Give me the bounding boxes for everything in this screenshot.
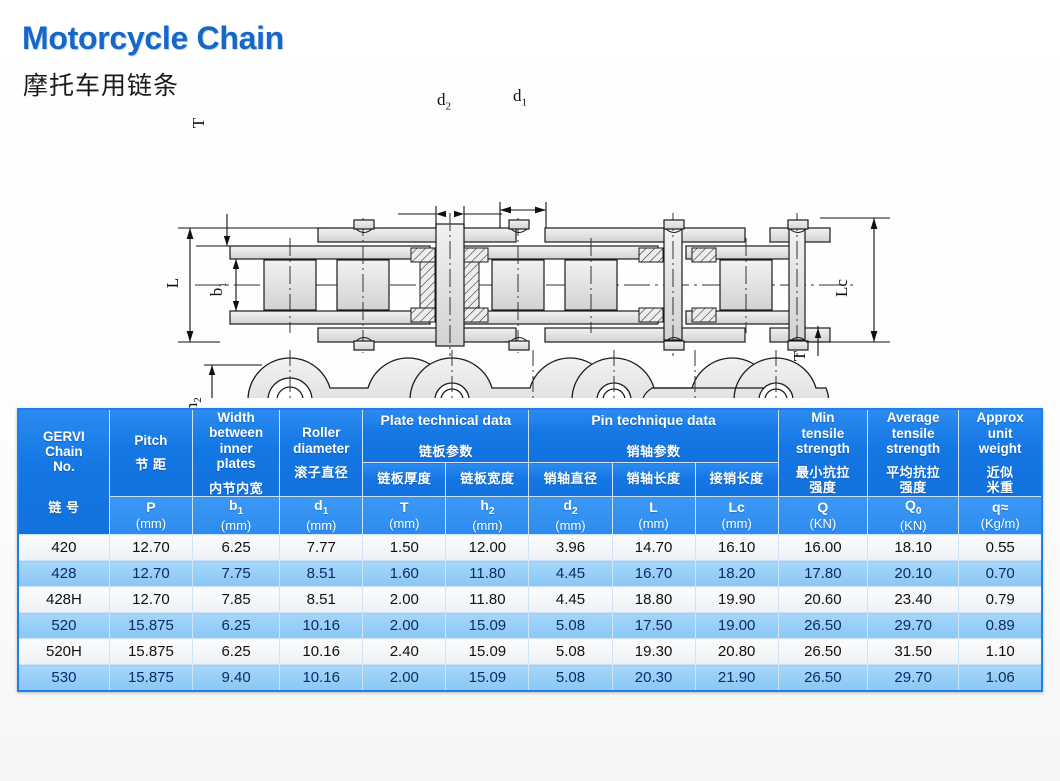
- cell-Lc: 20.80: [695, 639, 778, 665]
- header-approx-unit-weight: Approx unit weight 近似 米重: [959, 409, 1042, 497]
- dim-T-top: [196, 214, 330, 246]
- cell-q: 0.79: [959, 587, 1042, 613]
- cell-d1: 7.77: [280, 535, 363, 561]
- symbol-Q: Q (KN): [778, 497, 867, 535]
- cell-chain-no: 530: [18, 665, 109, 691]
- header-plate-width: 链板宽度: [446, 463, 529, 497]
- cell-b1: 7.85: [192, 587, 279, 613]
- header-plate-thickness: 链板厚度: [363, 463, 446, 497]
- header-roller-diameter: Roller diameter 滚子直径: [280, 409, 363, 497]
- cell-T: 2.00: [363, 665, 446, 691]
- cell-d2: 4.45: [529, 587, 612, 613]
- cell-chain-no: 520: [18, 613, 109, 639]
- header-row-symbols: P (mm) b1 (mm) d1 (mm) T (mm) h2 (mm) d2…: [18, 497, 1042, 535]
- header-chain-no: GERVI Chain No. 链 号: [18, 409, 109, 535]
- table-row[interactable]: 42812.707.758.511.6011.804.4516.7018.201…: [18, 561, 1042, 587]
- page-title-en: Motorcycle Chain: [22, 20, 284, 57]
- cell-P: 15.875: [109, 665, 192, 691]
- cell-d1: 8.51: [280, 587, 363, 613]
- cell-Q: 20.60: [778, 587, 867, 613]
- dim-label-d1: d1: [513, 86, 527, 108]
- symbol-b1: b1 (mm): [192, 497, 279, 535]
- cell-L: 14.70: [612, 535, 695, 561]
- dim-label-b1: b1: [207, 282, 229, 296]
- chain-drawing-svg: [0, 88, 1060, 398]
- cell-Q0: 29.70: [867, 613, 958, 639]
- cell-Q0: 31.50: [867, 639, 958, 665]
- cell-d2: 5.08: [529, 613, 612, 639]
- table-row[interactable]: 428H12.707.858.512.0011.804.4518.8019.90…: [18, 587, 1042, 613]
- table-row[interactable]: 52015.8756.2510.162.0015.095.0817.5019.0…: [18, 613, 1042, 639]
- table-body: 42012.706.257.771.5012.003.9614.7016.101…: [18, 535, 1042, 691]
- header-pin-length: 销轴长度: [612, 463, 695, 497]
- symbol-L: L (mm): [612, 497, 695, 535]
- header-pin-diameter: 销轴直径: [529, 463, 612, 497]
- cell-Lc: 19.00: [695, 613, 778, 639]
- symbol-d1: d1 (mm): [280, 497, 363, 535]
- cell-b1: 6.25: [192, 639, 279, 665]
- header-row-primary: GERVI Chain No. 链 号 Pitch 节 距 Width betw…: [18, 409, 1042, 463]
- cell-chain-no: 520H: [18, 639, 109, 665]
- cell-T: 1.60: [363, 561, 446, 587]
- dim-label-T-top: T: [194, 113, 204, 133]
- chain-spec-page: Motorcycle Chain 摩托车用链条: [0, 0, 1060, 781]
- header-min-tensile-strength: Min tensile strength 最小抗拉 强度: [778, 409, 867, 497]
- cell-Q0: 29.70: [867, 665, 958, 691]
- cell-P: 15.875: [109, 639, 192, 665]
- cell-h2: 15.09: [446, 613, 529, 639]
- chain-specification-table: GERVI Chain No. 链 号 Pitch 节 距 Width betw…: [17, 408, 1043, 692]
- symbol-d2: d2 (mm): [529, 497, 612, 535]
- cell-h2: 12.00: [446, 535, 529, 561]
- cell-Q: 26.50: [778, 613, 867, 639]
- cell-L: 19.30: [612, 639, 695, 665]
- cell-q: 0.55: [959, 535, 1042, 561]
- header-average-tensile-strength: Average tensile strength 平均抗拉 强度: [867, 409, 958, 497]
- cell-Q: 26.50: [778, 665, 867, 691]
- cell-q: 1.06: [959, 665, 1042, 691]
- table-header: GERVI Chain No. 链 号 Pitch 节 距 Width betw…: [18, 409, 1042, 535]
- cell-Lc: 18.20: [695, 561, 778, 587]
- cell-P: 12.70: [109, 561, 192, 587]
- dim-label-T-right: T: [795, 346, 805, 366]
- header-group-plate-data: Plate technical data 链板参数: [363, 409, 529, 463]
- cell-d2: 3.96: [529, 535, 612, 561]
- cell-d2: 4.45: [529, 561, 612, 587]
- cell-L: 16.70: [612, 561, 695, 587]
- cell-L: 18.80: [612, 587, 695, 613]
- table-row[interactable]: 42012.706.257.771.5012.003.9614.7016.101…: [18, 535, 1042, 561]
- cell-Q: 26.50: [778, 639, 867, 665]
- cell-chain-no: 428: [18, 561, 109, 587]
- cell-b1: 6.25: [192, 613, 279, 639]
- cell-L: 20.30: [612, 665, 695, 691]
- cell-h2: 11.80: [446, 587, 529, 613]
- cell-b1: 9.40: [192, 665, 279, 691]
- cell-h2: 11.80: [446, 561, 529, 587]
- cell-b1: 7.75: [192, 561, 279, 587]
- cell-P: 12.70: [109, 535, 192, 561]
- cell-d2: 5.08: [529, 639, 612, 665]
- top-section-view: [178, 202, 890, 356]
- header-group-pin-data: Pin technique data 销轴参数: [529, 409, 778, 463]
- cell-q: 0.70: [959, 561, 1042, 587]
- cell-d1: 10.16: [280, 639, 363, 665]
- cell-b1: 6.25: [192, 535, 279, 561]
- cell-chain-no: 428H: [18, 587, 109, 613]
- symbol-q: q≈ (Kg/m): [959, 497, 1042, 535]
- cell-Q: 16.00: [778, 535, 867, 561]
- cell-T: 2.40: [363, 639, 446, 665]
- cell-P: 15.875: [109, 613, 192, 639]
- cell-Q0: 23.40: [867, 587, 958, 613]
- symbol-P: P (mm): [109, 497, 192, 535]
- cell-Q0: 20.10: [867, 561, 958, 587]
- cell-Q: 17.80: [778, 561, 867, 587]
- symbol-Lc: Lc (mm): [695, 497, 778, 535]
- symbol-Q0: Q0 (KN): [867, 497, 958, 535]
- cell-q: 1.10: [959, 639, 1042, 665]
- cell-T: 2.00: [363, 587, 446, 613]
- cell-d1: 10.16: [280, 613, 363, 639]
- cell-h2: 15.09: [446, 665, 529, 691]
- symbol-T: T (mm): [363, 497, 446, 535]
- table-row[interactable]: 520H15.8756.2510.162.4015.095.0819.3020.…: [18, 639, 1042, 665]
- cell-chain-no: 420: [18, 535, 109, 561]
- dim-label-L: L: [163, 278, 183, 288]
- cell-P: 12.70: [109, 587, 192, 613]
- cell-Lc: 19.90: [695, 587, 778, 613]
- cell-d1: 8.51: [280, 561, 363, 587]
- cell-T: 2.00: [363, 613, 446, 639]
- cell-L: 17.50: [612, 613, 695, 639]
- dim-label-Lc: Lc: [832, 279, 852, 297]
- cell-d2: 5.08: [529, 665, 612, 691]
- header-pitch: Pitch 节 距: [109, 409, 192, 497]
- cell-h2: 15.09: [446, 639, 529, 665]
- cell-Lc: 16.10: [695, 535, 778, 561]
- cell-T: 1.50: [363, 535, 446, 561]
- table-row[interactable]: 53015.8759.4010.162.0015.095.0820.3021.9…: [18, 665, 1042, 691]
- chain-technical-drawing: d2 d1 T L b1 Lc T h2 P P: [0, 88, 1060, 398]
- header-connect-pin-length: 接销长度: [695, 463, 778, 497]
- cell-q: 0.89: [959, 613, 1042, 639]
- cell-Lc: 21.90: [695, 665, 778, 691]
- cell-d1: 10.16: [280, 665, 363, 691]
- header-width-inner-plates: Width between inner plates 内节内宽: [192, 409, 279, 497]
- cell-Q0: 18.10: [867, 535, 958, 561]
- symbol-h2: h2 (mm): [446, 497, 529, 535]
- dim-label-d2: d2: [437, 90, 451, 112]
